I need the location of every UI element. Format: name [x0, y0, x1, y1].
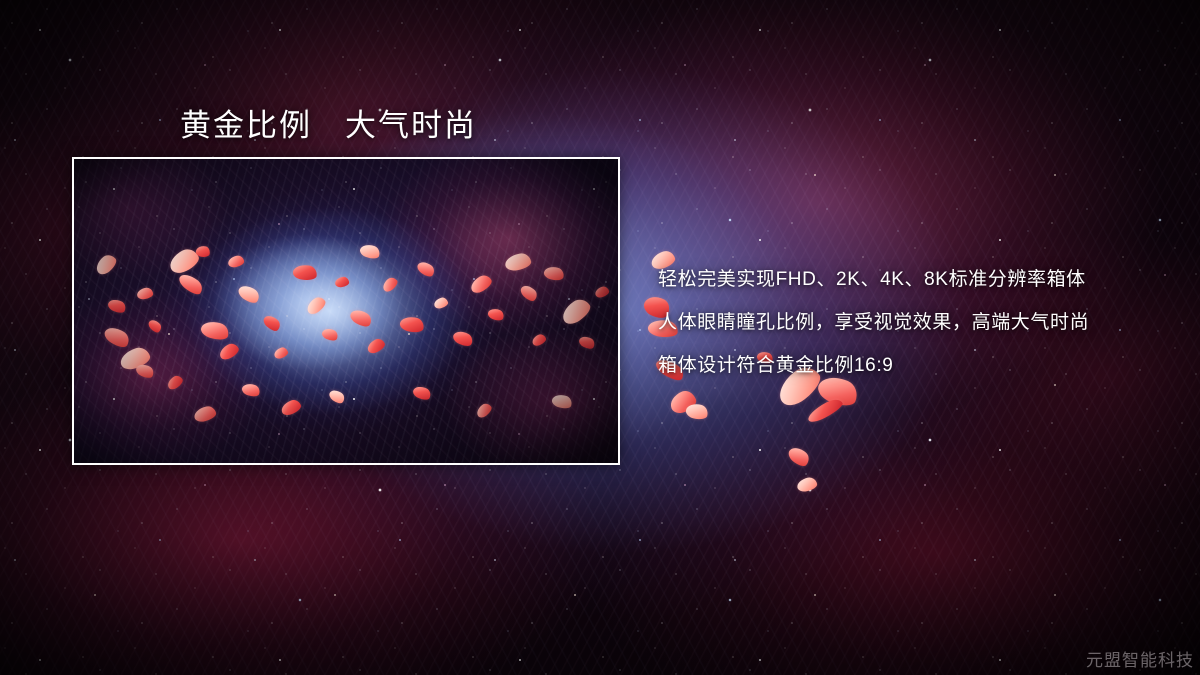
inner-photo-vignette: [74, 159, 618, 463]
body-line-1: 轻松完美实现FHD、2K、4K、8K标准分辨率箱体: [658, 258, 1178, 301]
watermark: 元盟智能科技: [1086, 646, 1194, 671]
body-line-3: 箱体设计符合黄金比例16:9: [658, 344, 1178, 387]
slide-title: 黄金比例 大气时尚: [180, 100, 477, 145]
slide-canvas: 黄金比例 大气时尚 轻松完美实现FHD、2K、4K、8K标准分辨率箱体 人体眼睛…: [0, 0, 1200, 675]
body-line-2: 人体眼睛瞳孔比例，享受视觉效果，高端大气时尚: [658, 301, 1178, 344]
framed-image: [72, 157, 620, 465]
body-text-block: 轻松完美实现FHD、2K、4K、8K标准分辨率箱体 人体眼睛瞳孔比例，享受视觉效…: [658, 258, 1178, 387]
